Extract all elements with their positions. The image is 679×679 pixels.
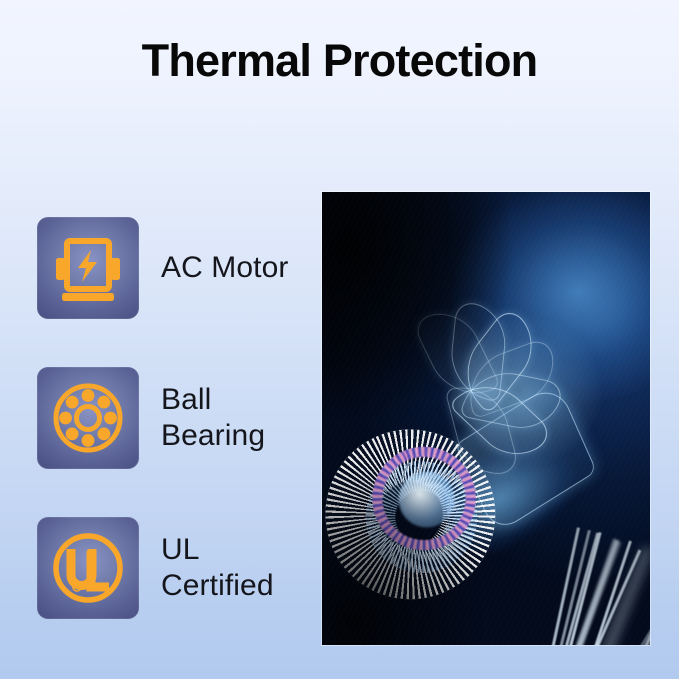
feature-label: UL Certified [161, 532, 274, 604]
feature-label: Ball Bearing [161, 382, 265, 454]
feature-icon-tile [37, 217, 139, 319]
ball-bearing-icon [52, 382, 124, 454]
feature-item-ball-bearing: Ball Bearing [37, 367, 327, 469]
page-title: Thermal Protection [0, 34, 679, 88]
infographic-page: Thermal Protection AC Motor [0, 0, 679, 679]
feature-icon-tile [37, 367, 139, 469]
svg-text:R: R [75, 585, 79, 591]
photo-grain [322, 192, 650, 645]
feature-label: AC Motor [161, 250, 289, 286]
feature-list: AC Motor [37, 217, 327, 619]
feature-item-ul-certified: R UL Certified [37, 517, 327, 619]
ac-motor-icon [53, 233, 123, 303]
ul-certified-icon: R [51, 531, 125, 605]
product-photo [322, 192, 650, 645]
feature-item-ac-motor: AC Motor [37, 217, 327, 319]
feature-icon-tile: R [37, 517, 139, 619]
